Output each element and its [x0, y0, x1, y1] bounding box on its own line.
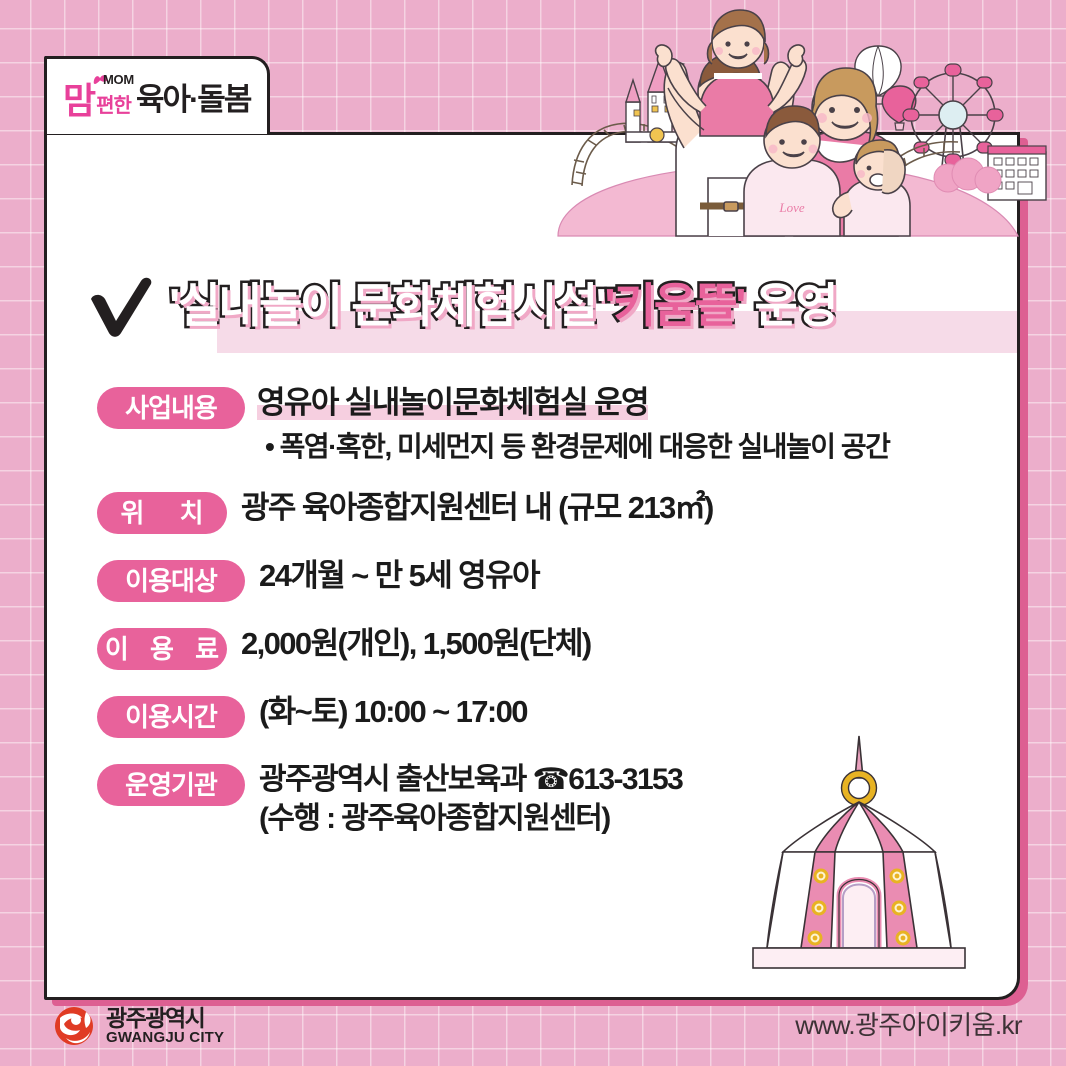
row-body-hours: (화~토) 10:00 ~ 17:00 — [259, 692, 527, 733]
logo-main-text: 육아·돌봄 — [136, 74, 250, 119]
row-text-location: 광주 육아종합지원센터 내 (규모 213㎡) — [241, 488, 713, 529]
info-row-fee: 이 용 료 2,000원(개인), 1,500원(단체) — [97, 624, 997, 670]
brand-logo: 맘 MOM 편한 육아·돌봄 — [63, 74, 250, 119]
info-row-location: 위 치 광주 육아종합지원센터 내 (규모 213㎡) — [97, 488, 997, 534]
row-text-fee: 2,000원(개인), 1,500원(단체) — [241, 624, 591, 665]
title-part-pink: '키움뜰' — [604, 279, 744, 332]
logo-mam-text: 맘 — [63, 83, 95, 119]
row-body-location: 광주 육아종합지원센터 내 (규모 213㎡) — [241, 488, 713, 529]
illustration-band — [47, 135, 1020, 225]
castle-icon — [626, 58, 690, 142]
info-row-target-users: 이용대상 24개월 ~ 만 5세 영유아 — [97, 556, 997, 602]
page-title-row: '실내놀이 문화체험시설''키움뜰' 운영 — [85, 273, 836, 339]
main-content-card: '실내놀이 문화체험시설''키움뜰' 운영 사업내용 영유아 실내놀이문화체험실… — [44, 132, 1020, 1000]
gwangju-city-emblem-icon — [52, 1004, 96, 1048]
row-body-fee: 2,000원(개인), 1,500원(단체) — [241, 624, 591, 665]
footer-city-en: GWANGJU CITY — [106, 1030, 224, 1046]
footer-city-text: 광주광역시 GWANGJU CITY — [106, 1006, 224, 1046]
row-text-operator-phone: 광주광역시 출산보육과 ☎613-3153 — [259, 760, 682, 800]
page-title: '실내놀이 문화체험시설''키움뜰' 운영 — [169, 281, 836, 330]
footer-city-kr: 광주광역시 — [106, 1006, 224, 1030]
row-subtext-business-content: • 폭염·혹한, 미세먼지 등 환경문제에 대응한 실내놀이 공간 — [265, 428, 889, 466]
checkmark-icon — [85, 273, 159, 339]
row-text-business-content: 영유아 실내놀이문화체험실 운영 — [257, 383, 648, 424]
row-body-target-users: 24개월 ~ 만 5세 영유아 — [259, 556, 539, 597]
label-pill-target-users: 이용대상 — [97, 560, 245, 602]
brand-logo-tab: 맘 MOM 편한 육아·돌봄 — [44, 56, 270, 134]
footer-city-brand: 광주광역시 GWANGJU CITY — [52, 1004, 224, 1048]
hot-air-balloon-icon — [855, 46, 916, 130]
title-part-white-end: 운영 — [744, 279, 836, 332]
poster-root: 맘 MOM 편한 육아·돌봄 '실내놀이 문화체험시설''키움뜰' 운영 사업 — [0, 0, 1066, 1066]
row-body-business-content: 영유아 실내놀이문화체험실 운영 • 폭염·혹한, 미세먼지 등 환경문제에 대… — [257, 383, 889, 466]
row-text-operator-agency: (수행 : 광주육아종합지원센터) — [259, 799, 610, 839]
info-row-business-content: 사업내용 영유아 실내놀이문화체험실 운영 • 폭염·혹한, 미세먼지 등 환경… — [97, 383, 997, 466]
title-part-white: '실내놀이 문화체험시설' — [169, 279, 604, 332]
logo-pyeonhan-text: 편한 — [96, 89, 131, 118]
label-pill-fee: 이 용 료 — [97, 628, 227, 670]
row-text-target-users: 24개월 ~ 만 5세 영유아 — [259, 556, 539, 597]
label-pill-hours: 이용시간 — [97, 696, 245, 738]
label-pill-location: 위 치 — [97, 492, 227, 534]
label-pill-business-content: 사업내용 — [97, 387, 245, 429]
row-text-hours: (화~토) 10:00 ~ 17:00 — [259, 692, 527, 733]
label-pill-operator: 운영기관 — [97, 764, 245, 806]
circus-tent-icon — [739, 730, 979, 975]
footer-website-url[interactable]: www.광주아이키움.kr — [795, 1005, 1022, 1042]
logo-mom-superscript: MOM — [103, 72, 134, 87]
